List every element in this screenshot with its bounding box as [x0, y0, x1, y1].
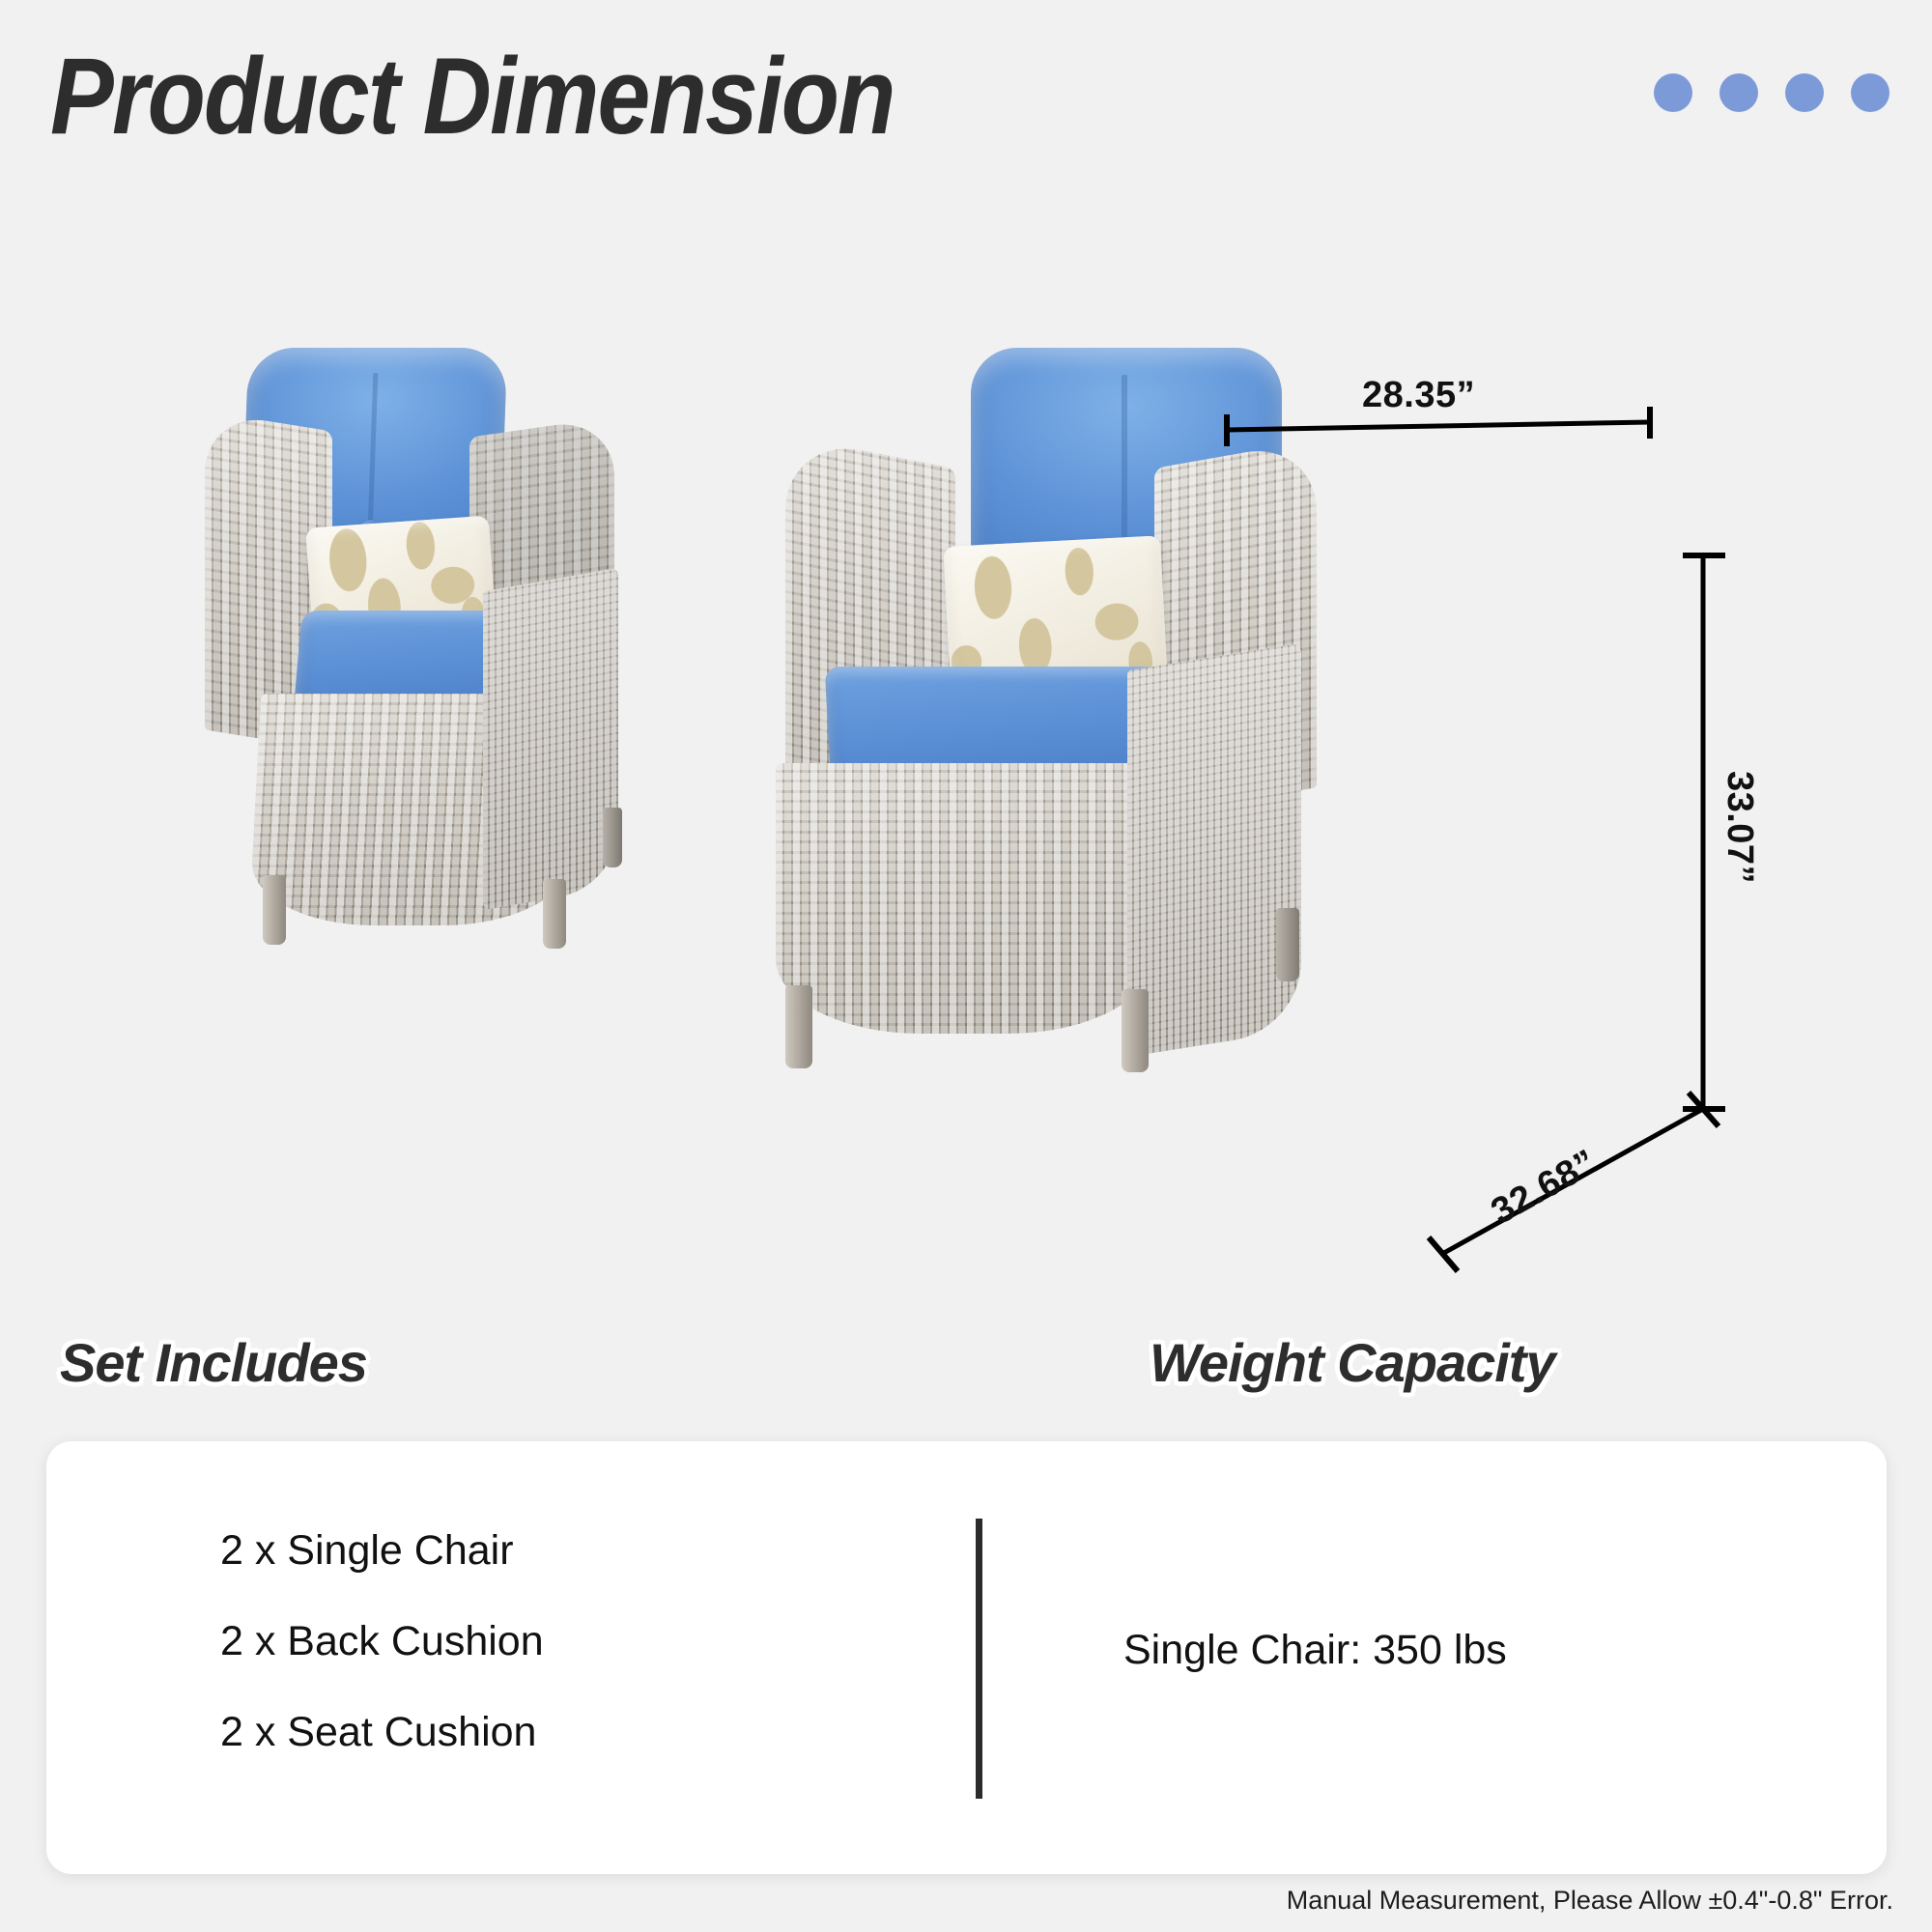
- leg-front-left: [263, 875, 286, 945]
- info-card: 2 x Single Chair 2 x Back Cushion 2 x Se…: [46, 1441, 1887, 1874]
- header: Product Dimension: [0, 0, 1932, 184]
- set-includes-list: 2 x Single Chair 2 x Back Cushion 2 x Se…: [220, 1517, 544, 1789]
- header-decorative-dots: [1654, 73, 1889, 112]
- frame-side-panel-left: [483, 568, 618, 911]
- list-item: 2 x Seat Cushion: [220, 1698, 544, 1766]
- frame-side-panel-right: [1127, 643, 1301, 1058]
- dimension-label-width: 28.35”: [1362, 375, 1475, 416]
- card-divider: [976, 1519, 982, 1799]
- dot-1-icon: [1654, 73, 1692, 112]
- product-image-chair-left: [184, 338, 696, 1014]
- cushion-seam-left: [368, 373, 379, 527]
- list-item: 2 x Single Chair: [220, 1517, 544, 1584]
- dot-3-icon: [1785, 73, 1824, 112]
- product-illustration-stage: [0, 184, 1932, 1285]
- leg-right-rear: [1276, 908, 1299, 981]
- frame-front-panel-right: [776, 763, 1152, 1034]
- dimension-label-height: 33.07”: [1719, 771, 1760, 884]
- leg-front-right: [543, 879, 566, 949]
- footer-disclaimer: Manual Measurement, Please Allow ±0.4"-0…: [1287, 1886, 1893, 1916]
- dot-4-icon: [1851, 73, 1889, 112]
- leg-right-front-right: [1122, 989, 1149, 1072]
- dot-2-icon: [1719, 73, 1758, 112]
- list-item: 2 x Back Cushion: [220, 1607, 544, 1675]
- leg-right-front-left: [785, 985, 812, 1068]
- weight-capacity-heading: Weight Capacity: [1150, 1331, 1555, 1394]
- product-image-chair-right: [749, 348, 1328, 1111]
- page-title: Product Dimension: [50, 43, 895, 151]
- leg-rear-right: [603, 808, 622, 867]
- weight-capacity-value: Single Chair: 350 lbs: [1123, 1627, 1507, 1674]
- set-includes-heading: Set Includes: [60, 1331, 367, 1394]
- cushion-seam-right: [1122, 375, 1127, 551]
